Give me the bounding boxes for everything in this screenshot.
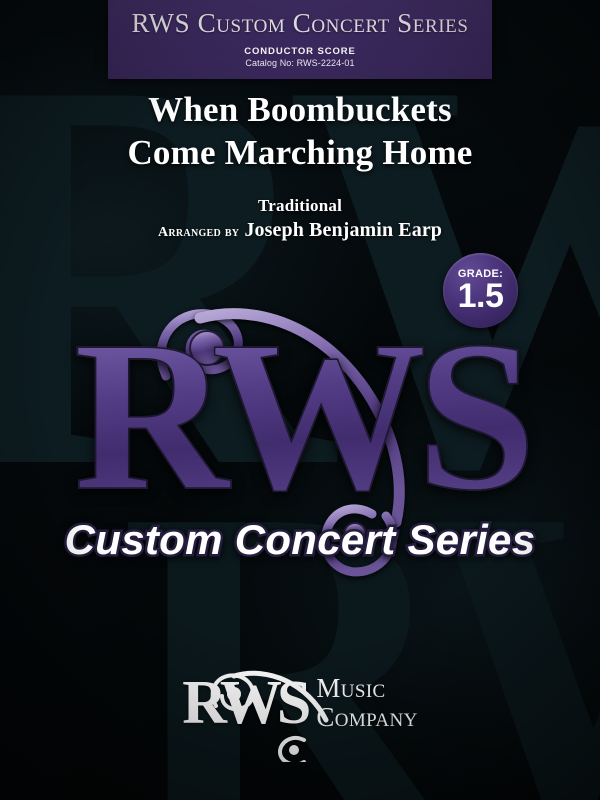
- publisher-name-line-2: Company: [316, 702, 417, 732]
- score-type-label: CONDUCTOR SCORE: [108, 46, 492, 58]
- song-title-line-2: Come Marching Home: [0, 131, 600, 174]
- rws-monogram: RWS: [0, 308, 600, 523]
- series-header-banner: RWS Custom Concert Series CONDUCTOR SCOR…: [108, 0, 492, 79]
- publisher-name-line-1: Music: [316, 673, 385, 703]
- series-banner-title: RWS Custom Concert Series: [108, 8, 492, 39]
- arranger-name: Joseph Benjamin Earp: [244, 219, 442, 241]
- song-title-line-1: When Boombuckets: [0, 88, 600, 131]
- publisher-logo: RWSMusicCompany: [0, 672, 600, 734]
- custom-concert-series-text: Custom Concert Series: [65, 516, 536, 564]
- credits-block: Traditional Arranged by Joseph Benjamin …: [0, 196, 600, 242]
- page-title: When Boombuckets Come Marching Home: [0, 88, 600, 174]
- catalog-number: Catalog No: RWS-2224-01: [108, 58, 492, 70]
- publisher-monogram: RWS: [182, 672, 306, 734]
- arranged-by-label: Arranged by: [158, 225, 239, 240]
- arranger-credit: Arranged by Joseph Benjamin Earp: [0, 219, 600, 242]
- score-cover-page: RWS RWS RWS Custom Concert Series CONDUC…: [0, 0, 600, 800]
- custom-concert-series-banner: Custom Concert Series: [0, 516, 600, 564]
- composer-name: Traditional: [0, 196, 600, 216]
- publisher-logo-inner: RWSMusicCompany: [182, 672, 418, 734]
- publisher-name: MusicCompany: [316, 674, 417, 732]
